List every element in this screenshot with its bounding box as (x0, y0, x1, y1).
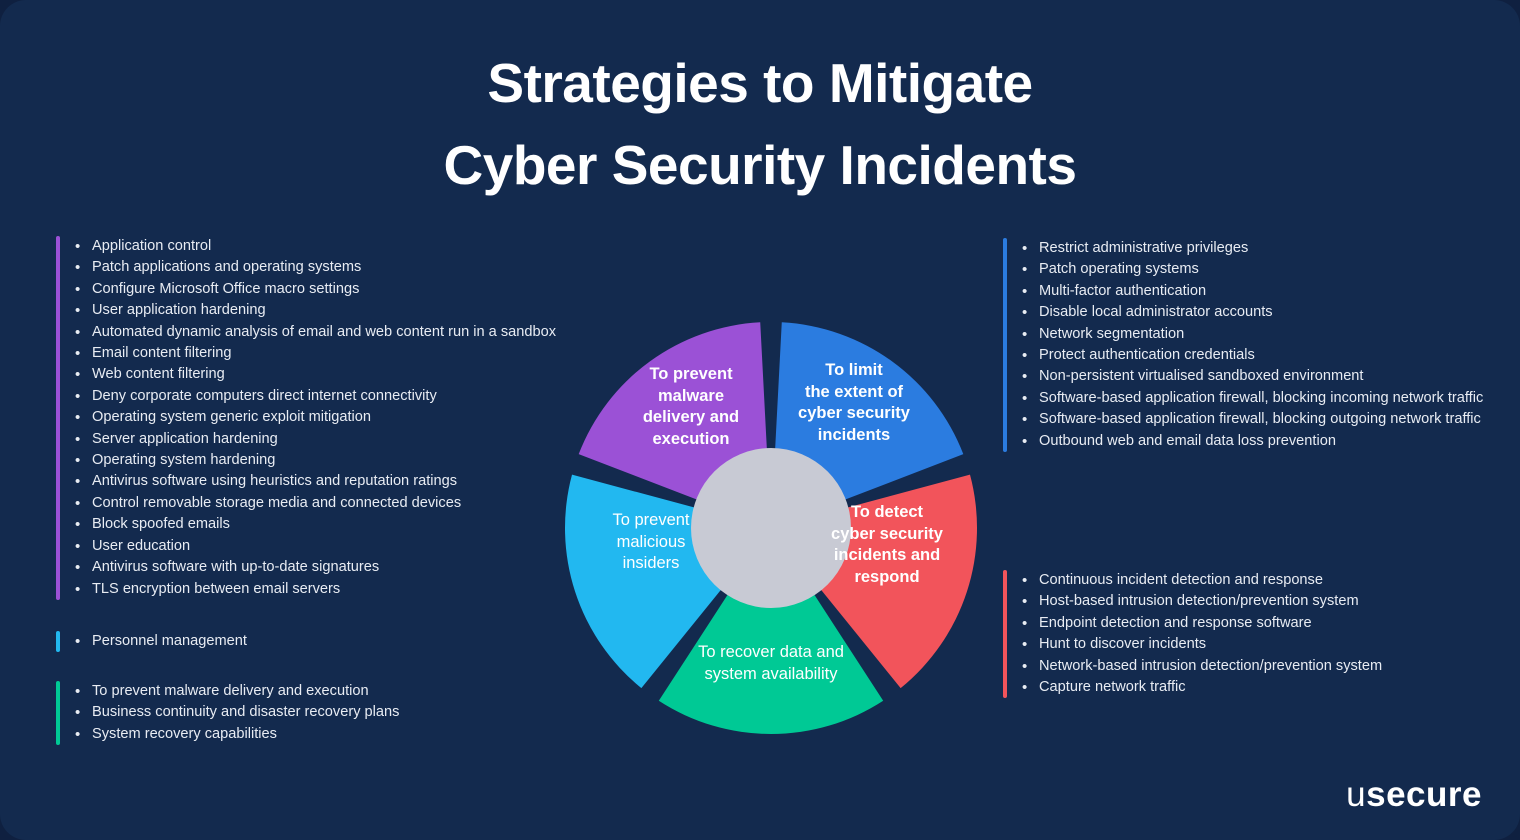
accent-bar-purple (56, 236, 60, 600)
list-item: Endpoint detection and response software (1039, 613, 1485, 634)
accent-bar-cyan (56, 631, 60, 652)
list-item: Non-persistent virtualised sandboxed env… (1039, 366, 1485, 387)
list-item: User application hardening (92, 300, 676, 321)
list-item: Patch applications and operating systems (92, 257, 676, 278)
list-item: Outbound web and email data loss prevent… (1039, 431, 1485, 452)
logo-part-u: u (1346, 775, 1366, 814)
list-item: Continuous incident detection and respon… (1039, 570, 1485, 591)
accent-bar-blue (1003, 238, 1007, 452)
list-item: Hunt to discover incidents (1039, 634, 1485, 655)
accent-bar-red (1003, 570, 1007, 698)
donut-hub (691, 448, 851, 608)
list-item: Network-based intrusion detection/preven… (1039, 656, 1485, 677)
list-item: Patch operating systems (1039, 259, 1485, 280)
donut-chart: To limit the extent of cyber security in… (565, 322, 977, 734)
list-item: To prevent malware delivery and executio… (92, 681, 516, 702)
list-item: Capture network traffic (1039, 677, 1485, 698)
right-list-1: Restrict administrative privileges Patch… (1003, 238, 1485, 452)
list-item: Multi-factor authentication (1039, 281, 1485, 302)
list-item: Software-based application firewall, blo… (1039, 388, 1485, 409)
list-item: System recovery capabilities (92, 724, 516, 745)
accent-bar-green (56, 681, 60, 745)
left-list-group-insiders: Personnel management (56, 631, 476, 652)
right-list-group-limit-extent: Restrict administrative privileges Patch… (1003, 238, 1485, 452)
title-line-1: Strategies to Mitigate (0, 42, 1520, 124)
donut-chart-svg (565, 322, 977, 734)
left-list-group-recovery: To prevent malware delivery and executio… (56, 681, 516, 745)
infographic-poster: Strategies to Mitigate Cyber Security In… (0, 0, 1520, 840)
left-list-2: Personnel management (56, 631, 476, 652)
list-item: Business continuity and disaster recover… (92, 702, 516, 723)
usecure-logo: usecure (1346, 776, 1482, 814)
list-item: Software-based application firewall, blo… (1039, 409, 1485, 430)
list-item: Network segmentation (1039, 324, 1485, 345)
title-line-2: Cyber Security Incidents (0, 124, 1520, 206)
list-item: Host-based intrusion detection/preventio… (1039, 591, 1485, 612)
right-list-group-detect-respond: Continuous incident detection and respon… (1003, 570, 1485, 698)
left-list-3: To prevent malware delivery and executio… (56, 681, 516, 745)
right-list-2: Continuous incident detection and respon… (1003, 570, 1485, 698)
list-item: Restrict administrative privileges (1039, 238, 1485, 259)
list-item: Disable local administrator accounts (1039, 302, 1485, 323)
list-item: Personnel management (92, 631, 476, 652)
page-title: Strategies to Mitigate Cyber Security In… (0, 42, 1520, 206)
list-item: Protect authentication credentials (1039, 345, 1485, 366)
logo-part-secure: secure (1366, 775, 1482, 814)
list-item: Application control (92, 236, 676, 257)
list-item: Configure Microsoft Office macro setting… (92, 279, 676, 300)
